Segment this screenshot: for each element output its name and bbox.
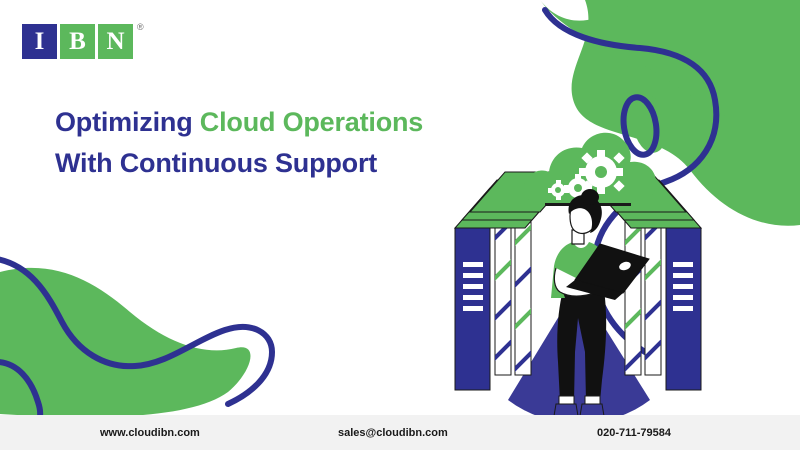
logo-tile-i: I xyxy=(22,24,57,59)
footer-phone[interactable]: 020-711-79584 xyxy=(597,427,671,439)
headline-line-2: With Continuous Support xyxy=(55,143,423,184)
headline-line-1: Optimizing Cloud Operations xyxy=(55,102,423,143)
ibn-logo[interactable]: I B N ® xyxy=(22,24,144,59)
marketing-banner: I B N ® Optimizing Cloud Operations With… xyxy=(0,0,800,450)
person-hair-bun xyxy=(581,189,599,205)
headline-accent: Cloud Operations xyxy=(200,107,423,137)
page-title: Optimizing Cloud Operations With Continu… xyxy=(55,102,423,183)
data-center-illustration xyxy=(0,0,800,450)
server-panel-right-2 xyxy=(638,213,670,375)
server-panel-left-2 xyxy=(508,205,540,376)
logo-tile-b: B xyxy=(60,24,95,59)
footer-contact-bar: www.cloudibn.com sales@cloudibn.com 020-… xyxy=(0,415,800,450)
footer-website[interactable]: www.cloudibn.com xyxy=(100,427,200,439)
headline-primary: Optimizing xyxy=(55,107,200,137)
logo-tile-n: N xyxy=(98,24,133,59)
footer-email[interactable]: sales@cloudibn.com xyxy=(338,427,448,439)
registered-trademark-icon: ® xyxy=(137,22,144,32)
